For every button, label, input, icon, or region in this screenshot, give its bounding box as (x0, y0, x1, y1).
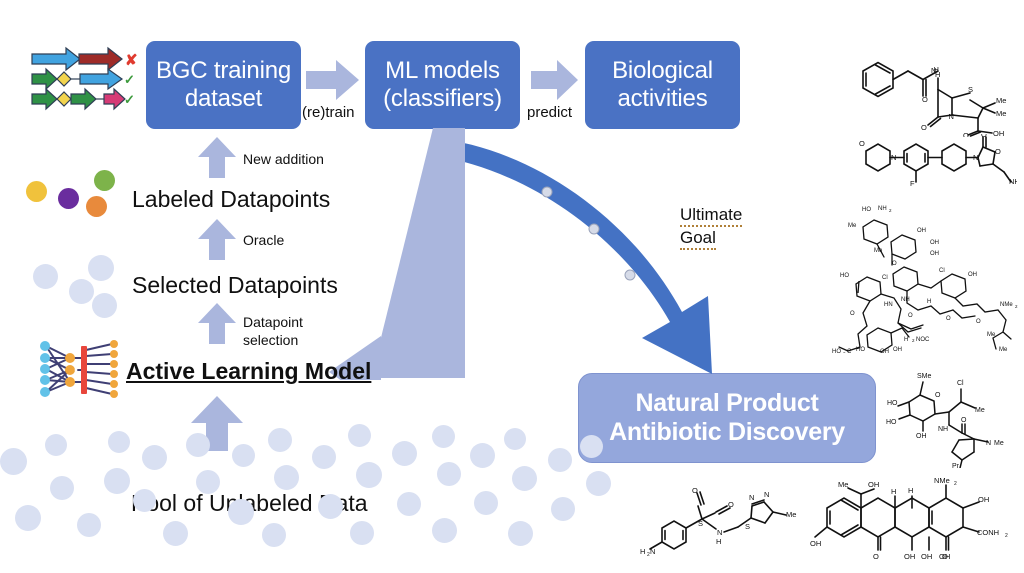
label-active-learning-model: Active Learning Model (126, 358, 371, 385)
svg-text:O: O (995, 147, 1001, 156)
svg-text:Me: Me (848, 223, 857, 229)
svg-text:OH: OH (893, 347, 902, 353)
svg-text:HO: HO (887, 400, 898, 407)
labeled-dot-orange (86, 196, 107, 217)
label-ultimate-goal: Ultimate Goal (680, 204, 742, 250)
molecule-vancomycin: HO NH2 Me Me OH OH OH O Cl Cl HO OH HN N… (828, 203, 1018, 353)
svg-text:NH: NH (1009, 177, 1017, 186)
datapoint-selection-line1: Datapoint (243, 314, 303, 330)
box-bio-line1: Biological (612, 57, 713, 85)
svg-text:2: 2 (912, 338, 915, 343)
svg-text:Me: Me (987, 332, 996, 338)
goal-line2: Antibiotic Discovery (609, 418, 845, 446)
svg-text:Me: Me (975, 407, 985, 414)
arrow-new-addition-icon (197, 137, 237, 179)
box-ml-line2: (classifiers) (383, 85, 502, 113)
svg-text:F: F (910, 179, 915, 188)
svg-text:HO: HO (832, 349, 841, 353)
gene-cluster-check-icon-1: ✓ (124, 72, 135, 88)
svg-text:O: O (850, 311, 855, 317)
svg-text:C: C (847, 349, 852, 353)
box-biological-activities[interactable]: Biological activities (585, 41, 740, 129)
svg-text:HO: HO (862, 207, 871, 213)
svg-text:O: O (728, 500, 734, 509)
box-bgc-line2: dataset (156, 85, 291, 113)
molecule-sulfamethizole: O O S N H N N S Me H2N (640, 486, 800, 568)
label-new-addition: New addition (243, 151, 324, 167)
svg-text:H: H (716, 537, 721, 546)
svg-text:Me: Me (838, 480, 848, 489)
svg-text:Me: Me (996, 109, 1006, 118)
svg-text:S: S (968, 85, 973, 94)
svg-text:N: N (973, 153, 978, 162)
svg-text:O: O (922, 95, 928, 104)
svg-text:HO: HO (840, 273, 849, 279)
box-bgc-line1: BGC training (156, 57, 291, 85)
svg-text:H: H (904, 337, 908, 343)
svg-text:2: 2 (889, 208, 892, 213)
ultimate-goal-line1: Ultimate (680, 205, 742, 227)
svg-text:NMe: NMe (1000, 302, 1013, 308)
box-ml-models[interactable]: ML models (classifiers) (365, 41, 520, 129)
labeled-dot-yellow (26, 181, 47, 202)
svg-text:2: 2 (954, 481, 957, 487)
svg-text:N: N (717, 528, 722, 537)
svg-text:O: O (935, 392, 941, 399)
svg-text:OH: OH (916, 433, 927, 440)
svg-text:Me: Me (786, 510, 796, 519)
arrow-retrain-icon (306, 58, 360, 102)
label-oracle: Oracle (243, 232, 284, 248)
svg-text:NH: NH (938, 426, 948, 433)
svg-text:OH: OH (810, 539, 821, 548)
svg-text:OH: OH (968, 272, 977, 278)
box-ml-line1: ML models (383, 57, 502, 85)
svg-text:Me: Me (994, 440, 1004, 447)
arrow-datapoint-selection-icon (197, 303, 237, 345)
ultimate-goal-line2: Goal (680, 228, 716, 250)
svg-text:H: H (640, 547, 645, 556)
molecule-linezolid: O N F N O O NH (852, 134, 1017, 204)
svg-text:2: 2 (1005, 533, 1008, 539)
svg-text:NOC: NOC (916, 337, 930, 343)
svg-text:O: O (976, 319, 981, 325)
svg-text:HO: HO (856, 347, 865, 353)
svg-text:H: H (891, 487, 896, 496)
svg-text:H: H (927, 299, 931, 305)
svg-text:N: N (764, 490, 769, 499)
svg-text:H: H (908, 486, 913, 495)
box-natural-product-antibiotic-discovery[interactable]: Natural Product Antibiotic Discovery (578, 373, 876, 463)
svg-text:OH: OH (930, 240, 939, 246)
svg-text:O: O (921, 123, 927, 132)
svg-text:O: O (908, 313, 913, 319)
svg-text:O: O (692, 486, 698, 495)
label-predict: predict (527, 104, 572, 121)
svg-text:Cl: Cl (957, 380, 964, 387)
svg-text:OH: OH (921, 552, 932, 561)
svg-text:OH: OH (868, 480, 879, 489)
svg-text:OH: OH (930, 251, 939, 257)
svg-text:N: N (949, 112, 954, 121)
datapoint-selection-line2: selection (243, 332, 298, 348)
labeled-dot-green (94, 170, 115, 191)
goal-line1: Natural Product (635, 389, 818, 417)
svg-text:O: O (873, 552, 879, 561)
svg-text:O: O (946, 316, 951, 322)
labeled-dot-purple (58, 188, 79, 209)
svg-text:O: O (859, 139, 865, 148)
svg-text:HN: HN (884, 302, 893, 308)
svg-text:Cl: Cl (882, 275, 888, 281)
neural-network-icon (36, 338, 122, 400)
gene-cluster-check-icon-2: ✓ (124, 92, 135, 108)
arrow-oracle-icon (197, 219, 237, 261)
svg-text:HO: HO (886, 419, 897, 426)
svg-text:2: 2 (1015, 304, 1018, 309)
arrow-feedback-elbow-icon (329, 128, 489, 380)
gene-cluster-cross-icon: ✘ (125, 51, 138, 70)
svg-text:O: O (942, 552, 948, 561)
box-bio-line2: activities (612, 85, 713, 113)
svg-text:2: 2 (843, 351, 846, 353)
svg-text:N: N (650, 547, 655, 556)
svg-text:OH: OH (978, 495, 989, 504)
molecule-penicillin-g: H S Me Me N O H N O OH O (852, 42, 1017, 137)
label-labeled-datapoints: Labeled Datapoints (132, 186, 330, 213)
svg-text:O: O (981, 134, 987, 139)
molecule-tetracycline: Me OH NMe2 H OH H CONH2 O OH OH O OH OH (810, 470, 1010, 570)
svg-text:N: N (749, 493, 754, 502)
svg-text:O: O (892, 261, 897, 267)
svg-text:OH: OH (880, 349, 889, 353)
svg-text:Me: Me (999, 347, 1008, 353)
label-datapoint-selection: Datapoint selection (243, 314, 323, 349)
svg-text:N: N (986, 440, 991, 447)
molecule-clindamycin: SMe Cl HO O Me HO OH NH O N Me Pr (886, 366, 1024, 468)
box-bgc-training-dataset[interactable]: BGC training dataset (146, 41, 301, 129)
svg-text:NH: NH (878, 206, 887, 212)
svg-text:OH: OH (917, 228, 926, 234)
svg-text:NH: NH (901, 297, 910, 303)
svg-text:S: S (745, 522, 750, 531)
svg-text:CONH: CONH (977, 528, 999, 537)
label-selected-datapoints: Selected Datapoints (132, 272, 338, 299)
svg-text:N: N (931, 66, 936, 75)
svg-text:N: N (891, 153, 896, 162)
svg-text:Cl: Cl (939, 268, 945, 274)
svg-text:Pr: Pr (952, 463, 960, 468)
svg-text:S: S (698, 519, 703, 528)
svg-text:Me: Me (996, 96, 1006, 105)
svg-text:SMe: SMe (917, 373, 932, 380)
diagram-canvas: ✘ ✓ ✓ BGC training dataset ML models (cl… (0, 0, 1024, 573)
svg-text:O: O (961, 417, 967, 424)
arrow-predict-icon (531, 58, 579, 102)
svg-text:NMe: NMe (934, 476, 950, 485)
label-retrain: (re)train (302, 104, 355, 121)
svg-text:Me: Me (874, 248, 883, 254)
svg-text:OH: OH (904, 552, 915, 561)
